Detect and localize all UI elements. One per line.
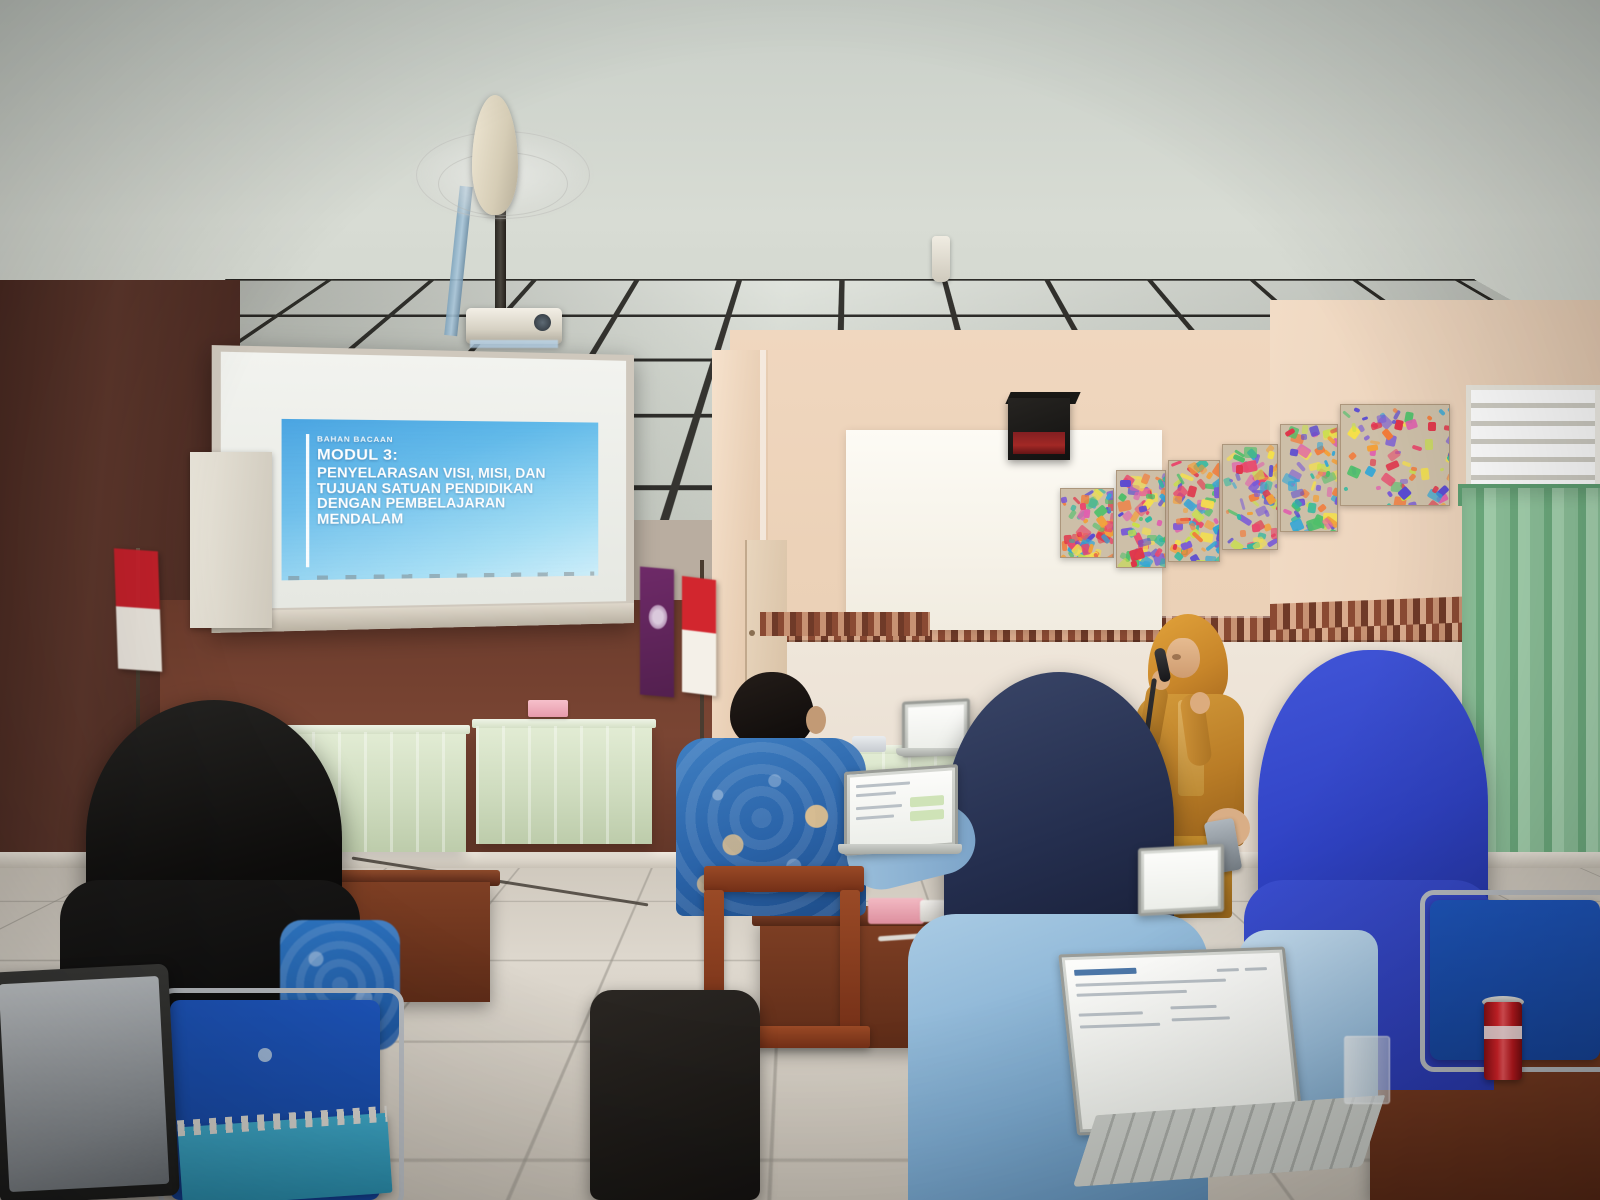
tablet-foreground-left[interactable] — [0, 963, 180, 1200]
projection-screen: BAHAN BACAAN MODUL 3: PENYELARASAN VISI,… — [212, 345, 634, 633]
collage-poster-2 — [1116, 470, 1166, 568]
doc-toolbar-item — [1217, 968, 1239, 972]
projection-screen-surface: BAHAN BACAAN MODUL 3: PENYELARASAN VISI,… — [221, 352, 626, 609]
wooden-chair-right-post — [840, 890, 860, 1040]
left-whiteboard — [190, 452, 272, 628]
doc-line — [1080, 1023, 1160, 1029]
tissue-box-pink — [528, 700, 568, 717]
blue-chair-button-icon — [258, 1048, 272, 1062]
doc-line — [1172, 1016, 1230, 1021]
doc-line — [856, 804, 902, 810]
presenter-hand-right — [1190, 692, 1210, 714]
ceiling-lamp — [932, 236, 950, 282]
laptop-back-table-screen — [908, 705, 964, 752]
doc-line — [1079, 1011, 1143, 1016]
laptop-center-base — [838, 844, 962, 854]
doc-highlight — [910, 795, 944, 807]
soda-can-label — [1484, 1026, 1522, 1039]
collage-poster-1 — [1060, 488, 1114, 558]
backpack[interactable] — [590, 990, 760, 1200]
plastic-cup — [1344, 1036, 1390, 1104]
doc-toolbar-item — [1245, 967, 1267, 971]
collage-poster-6 — [1340, 404, 1450, 506]
laptop-center-screen — [850, 770, 952, 849]
classroom-photo: BAHAN BACAAN MODUL 3: PENYELARASAN VISI,… — [0, 0, 1600, 1200]
projector-glow — [470, 340, 558, 348]
flag-emblem-icon — [648, 604, 668, 630]
presenter-face — [1166, 638, 1200, 678]
pink-box-on-desk — [868, 898, 924, 924]
laptop-center[interactable] — [844, 764, 958, 856]
indonesian-flag-center — [682, 576, 716, 696]
speaker-grille — [1013, 432, 1065, 454]
laptop-right-small-screen — [1144, 850, 1218, 910]
projector-lens-icon — [534, 314, 551, 331]
decorative-wall-border-left — [760, 612, 930, 636]
whiteboard — [846, 430, 1162, 630]
batik-participant-hair — [730, 672, 814, 748]
batik-participant-ear — [806, 706, 826, 734]
doc-line — [856, 781, 910, 788]
tablet-screen — [0, 976, 169, 1192]
indonesian-flag-left — [114, 548, 162, 671]
slide-light-haze — [282, 419, 599, 580]
spiral-notebook[interactable] — [177, 1113, 392, 1200]
collage-poster-3 — [1168, 460, 1220, 562]
doc-line — [1170, 1005, 1216, 1010]
presentation-slide: BAHAN BACAAN MODUL 3: PENYELARASAN VISI,… — [282, 419, 599, 580]
collage-poster-5 — [1280, 424, 1338, 532]
front-table-right-top — [472, 719, 656, 728]
laptop-right-small[interactable] — [1138, 844, 1224, 917]
doc-line — [1076, 990, 1187, 997]
doc-line — [856, 791, 896, 797]
doc-header-bar — [1074, 968, 1137, 976]
doc-highlight — [910, 809, 944, 821]
collage-poster-4 — [1222, 444, 1278, 550]
door-knob-icon[interactable] — [749, 630, 755, 636]
doc-line — [856, 814, 894, 820]
doc-line — [1075, 979, 1226, 987]
organization-flag-purple — [640, 567, 674, 698]
wooden-chair-back-rail[interactable] — [704, 866, 864, 892]
soda-can[interactable] — [1484, 1002, 1522, 1080]
presenter-mouth — [1172, 654, 1181, 660]
front-table-right — [476, 726, 652, 844]
